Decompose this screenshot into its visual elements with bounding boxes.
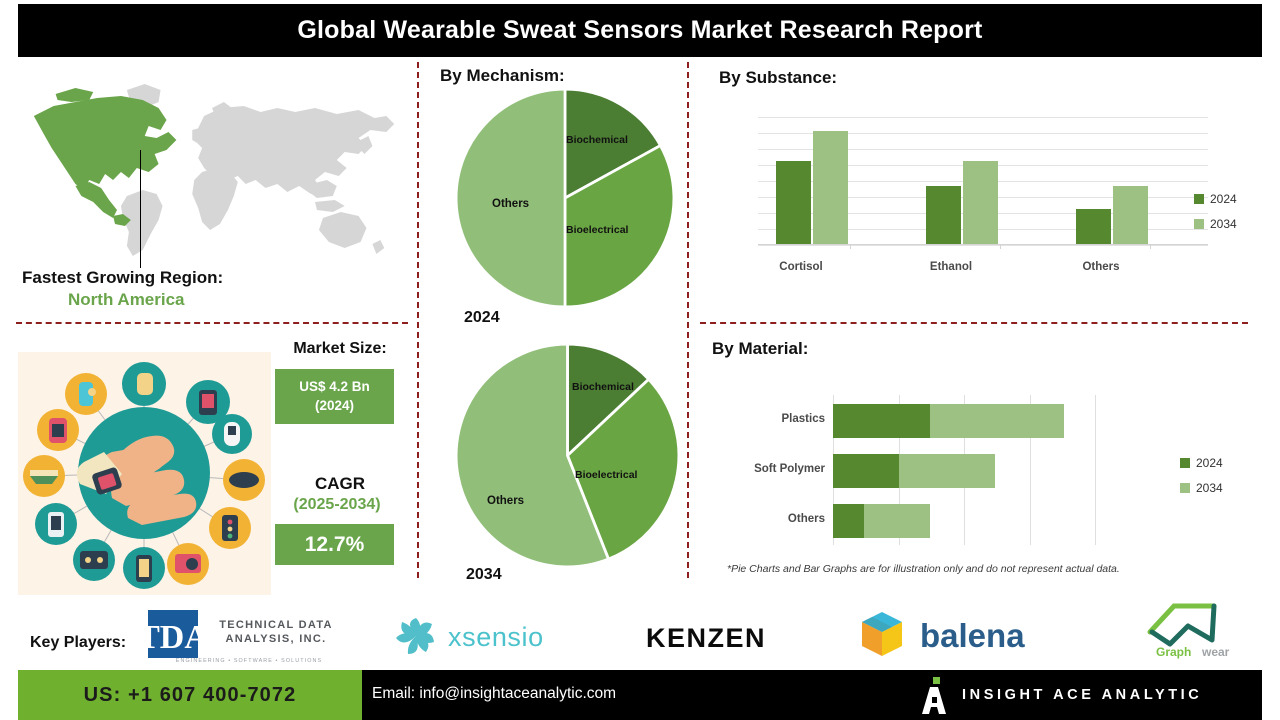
bar-2024 [1076,209,1111,244]
logo-balena[interactable]: balena [858,608,1068,660]
gridline [1095,395,1096,545]
by-substance-title: By Substance: [719,68,837,88]
svg-text:xsensio: xsensio [448,622,544,652]
bar-2034 [813,131,848,244]
bar-segment-2034 [930,404,1064,438]
axis-tick [850,244,851,249]
legend-item-2024: 2024 [1194,192,1237,206]
charts-disclaimer-footnote: *Pie Charts and Bar Graphs are for illus… [727,563,1120,575]
divider-horizontal-right [700,322,1248,324]
svg-text:balena: balena [920,617,1025,654]
pie-2024-label-bioelectrical: Bioelectrical [566,224,628,236]
legend-swatch-2034 [1180,483,1190,493]
by-material-title: By Material: [712,339,808,359]
legend-item-2034: 2034 [1194,217,1237,231]
svg-text:wear: wear [1201,645,1230,659]
category-label: Others [1046,261,1156,273]
pie-chart-2034 [455,343,680,568]
legend-swatch-2024 [1180,458,1190,468]
cagr-period: (2025-2034) [272,496,402,514]
bar-segment-2024 [833,454,899,488]
kenzen-logo-svg: KENZEN [618,618,794,656]
insight-ace-logo [916,677,952,715]
axis-tick [1150,244,1151,249]
bar-row [833,454,995,488]
pie-2024-label-biochemical: Biochemical [566,134,628,146]
footer-email-text[interactable]: Email: info@insightaceanalytic.com [372,685,616,703]
wearable-illustration-svg [18,352,271,595]
legend-label-2024: 2024 [1210,192,1237,206]
map-leader-line [140,150,141,268]
footer-phone-text: US: +1 607 400-7072 [84,684,297,707]
market-size-title: Market Size: [279,340,401,358]
bar-group [1076,186,1148,244]
axis-tick [1000,244,1001,249]
fastest-growing-region-label: Fastest Growing Region: [22,268,412,288]
pie-2034-label-others: Others [487,495,524,507]
svg-text:TDA: TDA [148,619,209,656]
category-label: Cortisol [746,261,856,273]
svg-text:Graph: Graph [1156,645,1191,659]
legend-swatch-2034 [1194,219,1204,229]
bar-2024 [926,186,961,244]
bar-segment-2034 [864,504,930,538]
svg-text:TECHNICAL DATA: TECHNICAL DATA [219,619,333,631]
insight-ace-logo-svg [916,677,952,715]
gridline [758,245,1208,246]
legend-item-2034: 2034 [1180,481,1223,495]
key-players-label: Key Players: [30,634,126,652]
gridline [758,117,1208,118]
bar-group [776,131,848,244]
bar-segment-2034 [899,454,996,488]
material-bar-chart: PlasticsSoft PolymerOthers [700,395,1260,550]
category-label: Soft Polymer [685,463,825,475]
svg-text:ANALYSIS, INC.: ANALYSIS, INC. [226,633,327,645]
bar-segment-2024 [833,504,864,538]
bar-row [833,504,930,538]
wearable-devices-illustration [18,352,271,595]
category-label: Plastics [685,413,825,425]
cagr-value-box: 12.7% [275,524,394,565]
category-label: Others [685,513,825,525]
bar-2034 [963,161,998,244]
pie-2024-label-others: Others [492,198,529,210]
insight-ace-brand-name: INSIGHT ACE ANALYTIC [962,687,1202,703]
pie-chart-2024-svg [455,88,675,308]
by-mechanism-title: By Mechanism: [440,66,565,86]
divider-vertical-left [417,62,419,578]
legend-label-2034: 2034 [1196,481,1223,495]
pie-2034-year-label: 2034 [466,566,502,584]
world-map [18,68,414,268]
divider-horizontal-left [16,322,408,324]
logo-graphwear[interactable]: Graph wear [1130,598,1252,660]
material-plot-area: PlasticsSoft PolymerOthers [833,395,1095,545]
bar-segment-2024 [833,404,930,438]
page-title: Global Wearable Sweat Sensors Market Res… [297,16,982,45]
bar-group [926,161,998,244]
legend-swatch-2024 [1194,194,1204,204]
pie-chart-2024 [455,88,675,308]
fastest-growing-region-value: North America [68,290,185,310]
divider-vertical-right [687,62,689,578]
bar-row [833,404,1064,438]
legend-item-2024: 2024 [1180,456,1223,470]
svg-text:ENGINEERING • SOFTWARE • S: ENGINEERING • SOFTWARE • SOLUTIONS [176,658,322,664]
market-size-value-box: US$ 4.2 Bn (2024) [275,369,394,424]
legend-label-2024: 2024 [1196,456,1223,470]
market-size-value: US$ 4.2 Bn [299,378,370,396]
svg-text:KENZEN: KENZEN [646,623,766,653]
logo-kenzen[interactable]: KENZEN [618,618,794,656]
market-size-year: (2024) [315,397,354,415]
bar-2034 [1113,186,1148,244]
cagr-value: 12.7% [305,533,365,557]
substance-chart-legend: 2024 2034 [1194,192,1237,242]
report-header-bar: Global Wearable Sweat Sensors Market Res… [18,4,1262,57]
legend-label-2034: 2034 [1210,217,1237,231]
graphwear-logo-svg: Graph wear [1130,598,1252,660]
substance-plot-area: CortisolEthanolOthers [758,117,1208,245]
technical-data-analysis-logo-svg: TDA TECHNICAL DATA ANALYSIS, INC. ENGINE… [148,606,350,668]
footer-phone-box[interactable]: US: +1 607 400-7072 [18,670,362,720]
pie-2034-label-bioelectrical: Bioelectrical [575,469,637,481]
category-label: Ethanol [896,261,1006,273]
bar-2024 [776,161,811,244]
material-chart-legend: 2024 2034 [1180,456,1223,506]
logo-xsensio[interactable]: xsensio [392,612,552,660]
cagr-title: CAGR [279,474,401,494]
logo-technical-data-analysis[interactable]: TDA TECHNICAL DATA ANALYSIS, INC. ENGINE… [148,606,350,668]
pie-chart-2034-svg [455,343,680,568]
xsensio-logo-svg: xsensio [392,612,552,660]
pie-2034-label-biochemical: Biochemical [572,381,634,393]
substance-bar-chart: CortisolEthanolOthers [700,105,1260,265]
balena-logo-svg: balena [858,608,1068,660]
pie-2024-year-label: 2024 [464,309,500,327]
world-map-svg [18,68,414,268]
